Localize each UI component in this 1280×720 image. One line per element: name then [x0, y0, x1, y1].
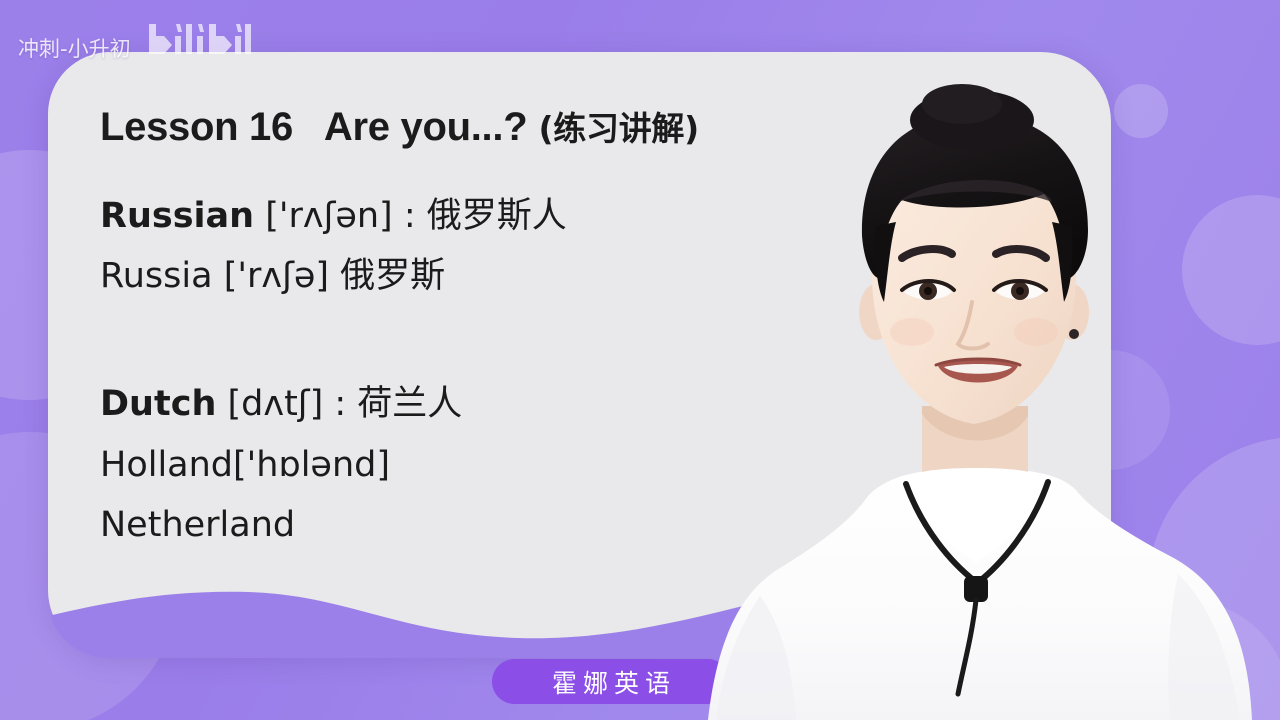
background-circle-decoration [1114, 84, 1168, 138]
vocab-headword: Russian [100, 196, 254, 236]
vocab-ipa: [dʌtʃ] [216, 384, 323, 424]
lesson-board: Lesson 16 Are you...? (练习讲解) Russian ['r… [48, 52, 1111, 656]
vocab-gloss: : 俄罗斯人 [393, 196, 567, 236]
vocab-line: Dutch [dʌtʃ] : 荷兰人 [100, 374, 1071, 434]
vocab-headword: Holland [100, 445, 233, 485]
vocab-ipa: ['hɒlənd] [233, 445, 390, 485]
title-gap [293, 105, 324, 149]
vocab-line: Holland['hɒlənd] [100, 435, 1071, 495]
vocab-group-dutch: Dutch [dʌtʃ] : 荷兰人 Holland['hɒlənd] Neth… [100, 374, 1071, 555]
vocab-gloss: 俄罗斯 [329, 256, 445, 296]
vocab-ipa: ['rʌʃən] [254, 196, 393, 236]
page-title: Lesson 16 Are you...? (练习讲解) [100, 102, 1071, 150]
vocab-line: Russian ['rʌʃən] : 俄罗斯人 [100, 186, 1071, 246]
lesson-question: Are you...? [324, 105, 527, 149]
vocab-ipa: ['rʌʃə] [213, 256, 329, 296]
board-content: Lesson 16 Are you...? (练习讲解) Russian ['r… [100, 102, 1071, 555]
vocab-headword: Dutch [100, 384, 216, 424]
video-frame: 冲刺-小升初 [0, 0, 1280, 720]
channel-badge: 霍娜英语 [492, 659, 730, 704]
lesson-number: Lesson 16 [100, 105, 293, 149]
vocab-line: Russia ['rʌʃə] 俄罗斯 [100, 246, 1071, 306]
board-bottom-wave [48, 538, 1111, 658]
vocab-headword: Russia [100, 256, 213, 296]
vocab-group-russian: Russian ['rʌʃən] : 俄罗斯人 Russia ['rʌʃə] 俄… [100, 186, 1071, 306]
lesson-note: (练习讲解) [527, 109, 699, 148]
channel-badge-label: 霍娜英语 [546, 664, 676, 700]
vocab-gloss: : 荷兰人 [323, 384, 462, 424]
